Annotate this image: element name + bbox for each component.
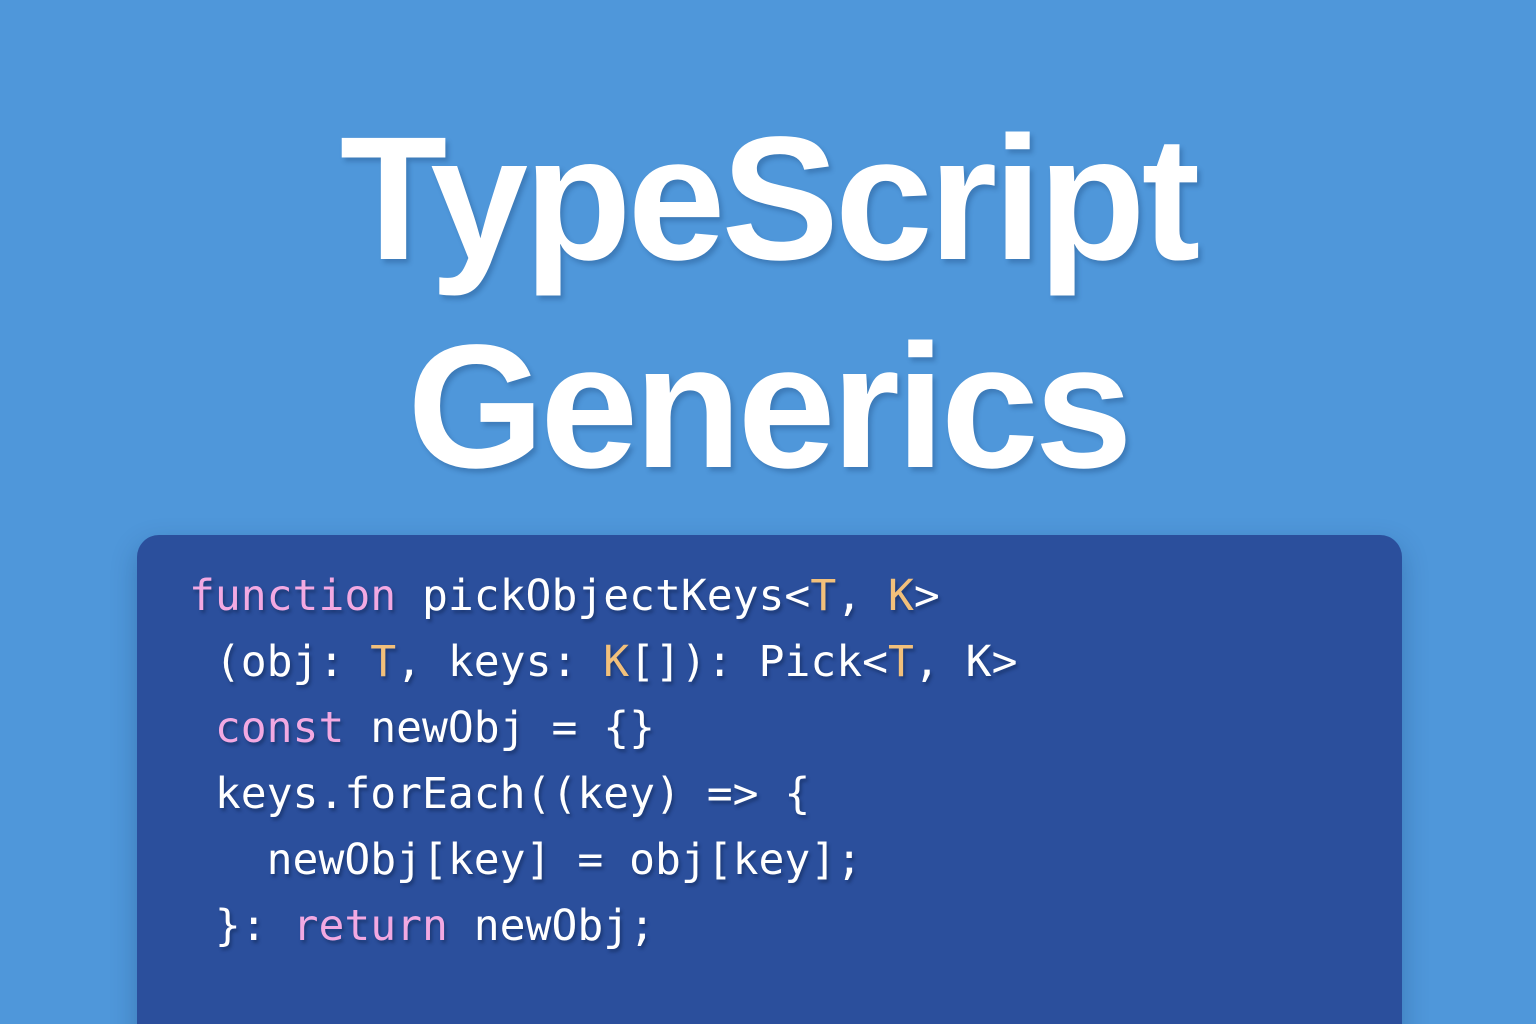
- code-token-plain: ,: [836, 571, 888, 621]
- code-token-type: T: [370, 637, 396, 687]
- code-token-plain: []): Pick<: [629, 637, 888, 687]
- code-token-plain: (obj:: [215, 637, 370, 687]
- code-token-plain: keys.forEach((key) => {: [215, 769, 810, 819]
- code-line: function pickObjectKeys<T, K>: [189, 563, 1402, 629]
- code-indent: [189, 769, 215, 819]
- code-token-plain: , K>: [914, 637, 1018, 687]
- code-token-plain: newObj[key] = obj[key];: [267, 835, 862, 885]
- code-token-plain: , keys:: [396, 637, 603, 687]
- code-token-plain: >: [914, 571, 940, 621]
- code-indent: [189, 901, 215, 951]
- code-token-plain: newObj;: [448, 901, 655, 951]
- code-line: newObj[key] = obj[key];: [189, 827, 1402, 893]
- code-panel: function pickObjectKeys<T, K> (obj: T, k…: [137, 535, 1402, 1024]
- code-indent: [189, 835, 267, 885]
- code-token-type: T: [888, 637, 914, 687]
- code-indent: [189, 703, 215, 753]
- code-token-plain: newObj = {}: [344, 703, 655, 753]
- code-token-keyword: return: [293, 901, 448, 951]
- code-token-plain: }:: [215, 901, 293, 951]
- title-line-1: TypeScript: [0, 96, 1536, 304]
- slide-canvas: TypeScript Generics function pickObjectK…: [0, 0, 1536, 1024]
- code-token-plain: pickObjectKeys<: [396, 571, 810, 621]
- code-token-type: T: [810, 571, 836, 621]
- title-line-2: Generics: [0, 304, 1536, 512]
- code-line: }: return newObj;: [189, 893, 1402, 959]
- code-token-keyword: const: [215, 703, 344, 753]
- code-line: keys.forEach((key) => {: [189, 761, 1402, 827]
- code-line: (obj: T, keys: K[]): Pick<T, K>: [189, 629, 1402, 695]
- code-line: const newObj = {}: [189, 695, 1402, 761]
- code-token-type: K: [603, 637, 629, 687]
- code-block[interactable]: function pickObjectKeys<T, K> (obj: T, k…: [189, 563, 1402, 959]
- page-title: TypeScript Generics: [0, 96, 1536, 511]
- code-token-type: K: [888, 571, 914, 621]
- code-indent: [189, 637, 215, 687]
- code-token-keyword: function: [189, 571, 396, 621]
